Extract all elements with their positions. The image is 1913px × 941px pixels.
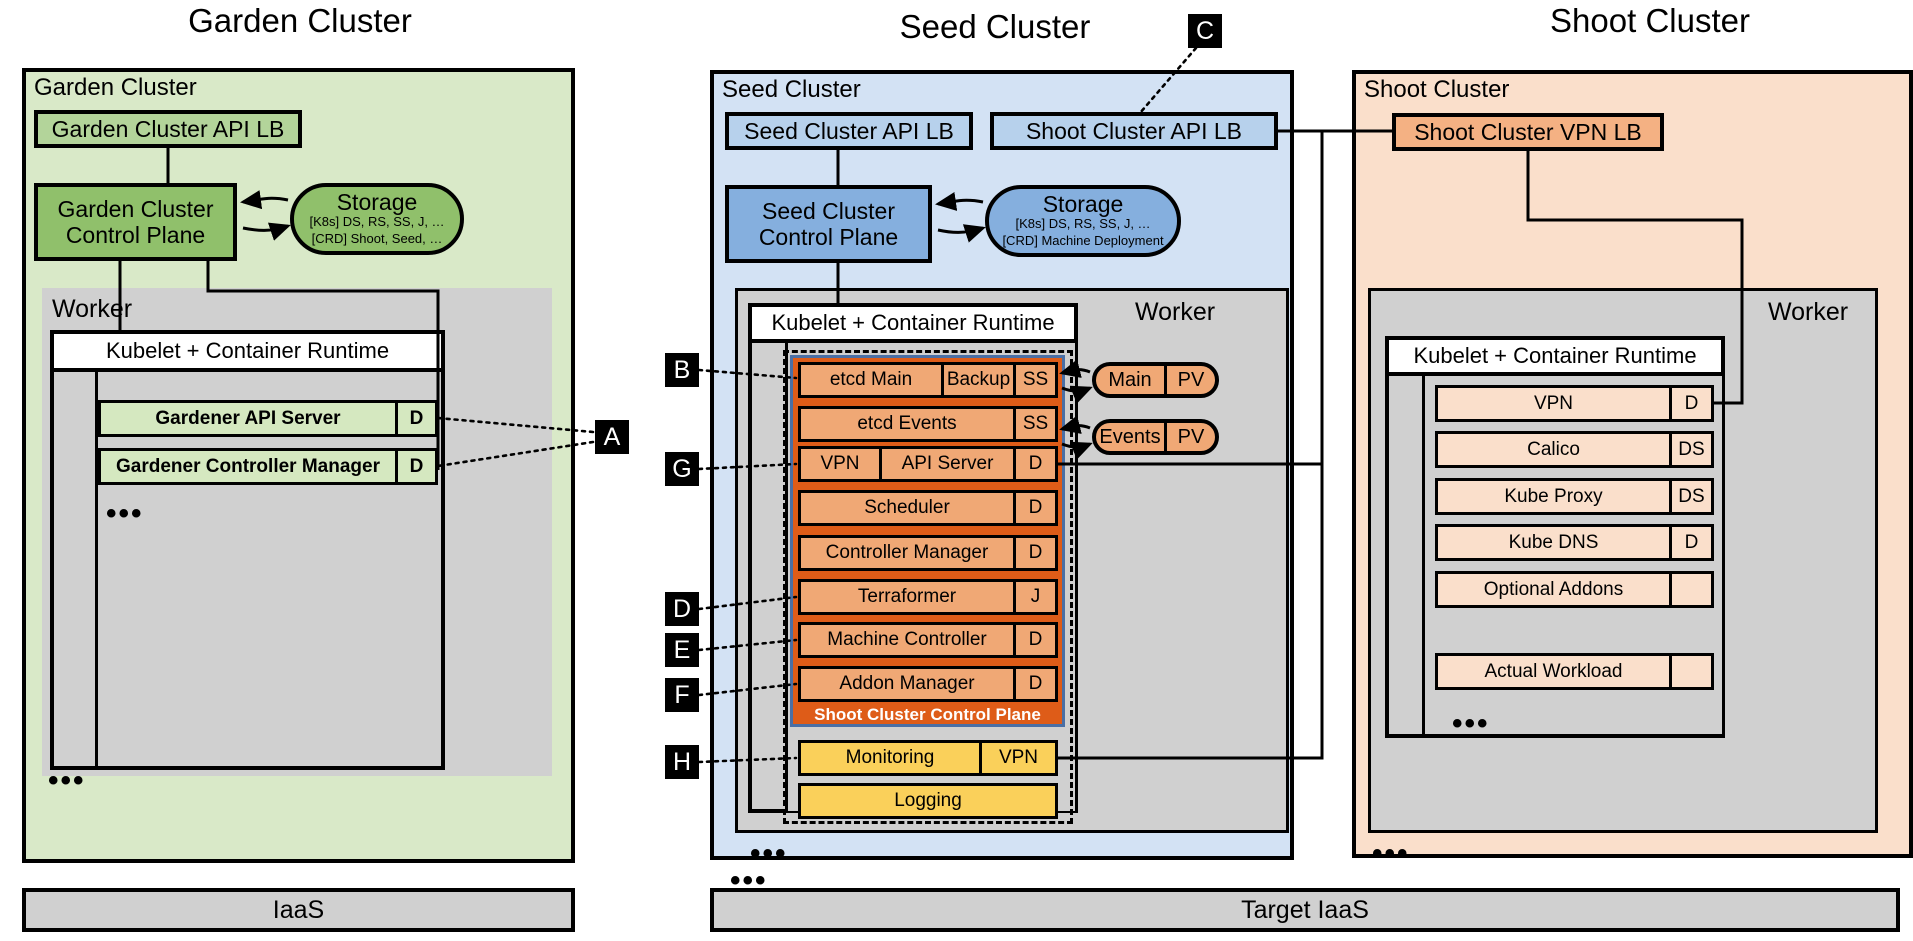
badge-a[interactable]: A <box>595 420 629 454</box>
seed-storage-line2: [CRD] Machine Deployment <box>1002 233 1163 249</box>
shoot-worker-ellipsis: ••• <box>1372 848 1410 860</box>
page-title-shoot: Shoot Cluster <box>1370 2 1913 40</box>
seed-pod-api-server-kind: D <box>1013 449 1055 479</box>
shoot-pod-kube-proxy-name: Kube Proxy <box>1438 481 1669 512</box>
garden-cluster-panel-label: Garden Cluster <box>34 76 197 100</box>
seed-pod-addon-manager-name: Addon Manager <box>801 669 1013 699</box>
seed-pod-machine-controller-name: Machine Controller <box>801 625 1013 655</box>
seed-pod-controller-manager-name: Controller Manager <box>801 538 1013 568</box>
seed-worker-label: Worker <box>1135 298 1215 327</box>
garden-storage-title: Storage <box>337 191 418 214</box>
seed-pod-etcd-events-name: etcd Events <box>801 409 1013 439</box>
seed-storage-title: Storage <box>1043 193 1124 216</box>
page-title-garden: Garden Cluster <box>20 2 580 40</box>
shoot-pod-kube-dns-name: Kube DNS <box>1438 527 1669 558</box>
seed-storage[interactable]: Storage [K8s] DS, RS, SS, J, … [CRD] Mac… <box>985 185 1181 257</box>
shoot-pod-actual-workload-name: Actual Workload <box>1438 656 1669 687</box>
seed-pod-machine-controller[interactable]: Machine Controller D <box>798 622 1058 658</box>
garden-worker-ellipsis: ••• <box>48 775 86 787</box>
shoot-pod-calico-name: Calico <box>1438 434 1669 465</box>
seed-pod-api-server[interactable]: VPN API Server D <box>798 446 1058 482</box>
seed-pod-monitoring-vpn: VPN <box>979 743 1055 773</box>
garden-storage-line1: [K8s] DS, RS, SS, J, … <box>309 214 444 230</box>
shoot-pod-vpn[interactable]: VPN D <box>1435 385 1714 422</box>
seed-pod-controller-manager-kind: D <box>1013 538 1055 568</box>
seed-pod-api-server-name: API Server <box>879 449 1013 479</box>
shoot-pod-kube-proxy[interactable]: Kube Proxy DS <box>1435 478 1714 515</box>
shoot-pod-actual-workload[interactable]: Actual Workload <box>1435 653 1714 690</box>
seed-pod-machine-controller-kind: D <box>1013 625 1055 655</box>
badge-e[interactable]: E <box>665 633 699 667</box>
seed-panel-ellipsis: ••• <box>730 875 768 887</box>
seed-volume-events[interactable]: Events PV <box>1092 419 1219 455</box>
shoot-pod-optional-addons-kind <box>1669 574 1711 605</box>
seed-pod-etcd-main[interactable]: etcd Main Backup SS <box>798 362 1058 398</box>
seed-api-lb[interactable]: Seed Cluster API LB <box>725 112 973 150</box>
seed-pod-etcd-events-kind: SS <box>1013 409 1055 439</box>
seed-pod-terraformer[interactable]: Terraformer J <box>798 579 1058 615</box>
garden-pod-controller-manager-kind: D <box>395 451 435 482</box>
seed-control-plane[interactable]: Seed Cluster Control Plane <box>725 185 932 263</box>
shoot-pod-calico[interactable]: Calico DS <box>1435 431 1714 468</box>
garden-pods-ellipsis: ••• <box>106 508 144 520</box>
garden-iaas-bar: IaaS <box>22 888 575 932</box>
seed-pod-monitoring[interactable]: Monitoring VPN <box>798 740 1058 776</box>
shoot-worker-label: Worker <box>1768 298 1848 327</box>
seed-volume-events-name: Events <box>1096 423 1164 451</box>
garden-pod-controller-manager[interactable]: Gardener Controller Manager D <box>98 448 438 485</box>
garden-pod-api-server[interactable]: Gardener API Server D <box>98 400 438 437</box>
seed-pod-etcd-events[interactable]: etcd Events SS <box>798 406 1058 442</box>
garden-control-plane[interactable]: Garden Cluster Control Plane <box>34 183 237 261</box>
seed-volume-main-kind: PV <box>1164 366 1215 394</box>
badge-c[interactable]: C <box>1188 14 1222 48</box>
seed-storage-line1: [K8s] DS, RS, SS, J, … <box>1015 216 1150 232</box>
seed-pod-etcd-main-kind: SS <box>1013 365 1055 395</box>
shoot-pod-kube-proxy-kind: DS <box>1669 481 1711 512</box>
seed-pod-etcd-main-name: etcd Main <box>801 365 941 395</box>
seed-pod-scheduler-name: Scheduler <box>801 493 1013 523</box>
shoot-vpn-lb[interactable]: Shoot Cluster VPN LB <box>1392 113 1664 151</box>
seed-pod-controller-manager[interactable]: Controller Manager D <box>798 535 1058 571</box>
garden-storage[interactable]: Storage [K8s] DS, RS, SS, J, … [CRD] Sho… <box>290 183 464 255</box>
seed-pod-logging[interactable]: Logging <box>798 783 1058 819</box>
seed-volume-main[interactable]: Main PV <box>1092 362 1219 398</box>
seed-cluster-panel-label: Seed Cluster <box>722 78 861 102</box>
shoot-pod-optional-addons[interactable]: Optional Addons <box>1435 571 1714 608</box>
seed-pod-terraformer-name: Terraformer <box>801 582 1013 612</box>
garden-control-plane-line2: Control Plane <box>66 222 205 248</box>
garden-worker-label: Worker <box>52 295 132 324</box>
badge-b[interactable]: B <box>665 353 699 387</box>
badge-g[interactable]: G <box>665 452 699 486</box>
garden-pod-api-server-name: Gardener API Server <box>101 403 395 434</box>
shoot-pods-ellipsis: ••• <box>1452 718 1490 730</box>
seed-pod-terraformer-kind: J <box>1013 582 1055 612</box>
shoot-pod-vpn-kind: D <box>1669 388 1711 419</box>
shoot-pod-vpn-name: VPN <box>1438 388 1669 419</box>
shoot-pod-kube-dns-kind: D <box>1669 527 1711 558</box>
seed-pod-scheduler[interactable]: Scheduler D <box>798 490 1058 526</box>
seed-control-plane-line1: Seed Cluster <box>762 198 895 224</box>
shoot-pod-kube-dns[interactable]: Kube DNS D <box>1435 524 1714 561</box>
seed-pod-addon-manager[interactable]: Addon Manager D <box>798 666 1058 702</box>
garden-pod-controller-manager-name: Gardener Controller Manager <box>101 451 395 482</box>
garden-api-lb[interactable]: Garden Cluster API LB <box>34 110 302 148</box>
shoot-pod-optional-addons-name: Optional Addons <box>1438 574 1669 605</box>
seed-pod-scheduler-kind: D <box>1013 493 1055 523</box>
seed-volume-events-kind: PV <box>1164 423 1215 451</box>
garden-storage-line2: [CRD] Shoot, Seed, … <box>312 231 443 247</box>
badge-f[interactable]: F <box>665 678 699 712</box>
badge-d[interactable]: D <box>665 592 699 626</box>
garden-control-plane-line1: Garden Cluster <box>58 196 214 222</box>
seed-control-plane-line2: Control Plane <box>759 224 898 250</box>
seed-iaas-bar: Target IaaS <box>710 888 1900 932</box>
seed-pod-api-server-vpn: VPN <box>801 449 879 479</box>
shoot-cluster-panel-label: Shoot Cluster <box>1364 78 1509 102</box>
badge-h[interactable]: H <box>665 745 699 779</box>
seed-pod-logging-name: Logging <box>801 786 1055 816</box>
seed-shoot-control-plane-label: Shoot Cluster Control Plane <box>790 705 1065 725</box>
seed-volume-main-name: Main <box>1096 366 1164 394</box>
garden-pod-api-server-kind: D <box>395 403 435 434</box>
seed-worker-ellipsis: ••• <box>750 848 788 860</box>
shoot-api-lb[interactable]: Shoot Cluster API LB <box>990 112 1278 150</box>
shoot-pod-calico-kind: DS <box>1669 434 1711 465</box>
seed-pod-addon-manager-kind: D <box>1013 669 1055 699</box>
seed-pod-monitoring-name: Monitoring <box>801 743 979 773</box>
seed-pod-etcd-main-backup: Backup <box>941 365 1013 395</box>
shoot-pod-actual-workload-kind <box>1669 656 1711 687</box>
